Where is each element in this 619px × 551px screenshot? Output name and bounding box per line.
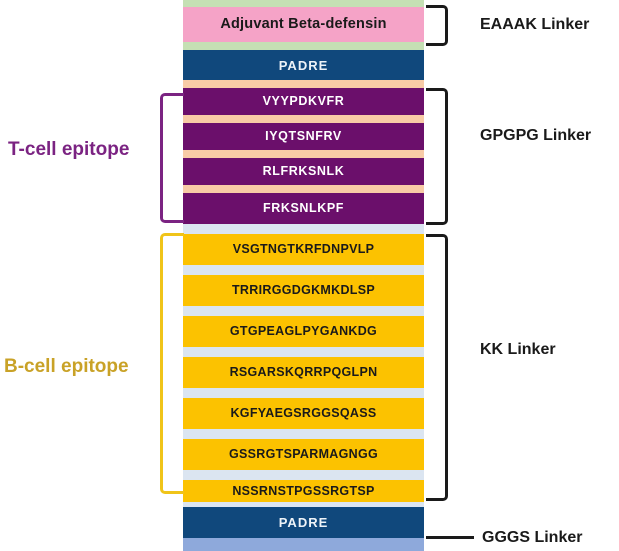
padre-top-label: PADRE <box>279 59 329 72</box>
linker-ltblue-4 <box>183 347 424 357</box>
eaaak-linker-label: EAAAK Linker <box>480 16 589 34</box>
kk-linker-bracket <box>426 234 448 501</box>
bcell-epitope-3-label: GTGPEAGLPYGANKDG <box>230 325 377 338</box>
gpgpg-linker-bracket <box>426 88 448 225</box>
linker-ltblue-6 <box>183 429 424 439</box>
vaccine-construct-stack: Adjuvant Beta-defensinPADREVYYPDKVFRIYQT… <box>183 0 424 551</box>
linker-peach-1 <box>183 80 424 88</box>
bcell-epitope-5-label: KGFYAEGSRGGSQASS <box>230 407 376 420</box>
eaaak-linker-bracket <box>426 5 448 46</box>
bcell-epitope-2: TRRIRGGDGKMKDLSP <box>183 275 424 306</box>
linker-ltblue-5 <box>183 388 424 398</box>
tcell-epitope-label: T-cell epitope <box>8 139 129 161</box>
tcell-epitope-1-label: VYYPDKVFR <box>263 95 345 108</box>
bcell-epitope-6-label: GSSRGTSPARMAGNGG <box>229 448 378 461</box>
adjuvant: Adjuvant Beta-defensin <box>183 7 424 42</box>
tcell-epitope-2-label: IYQTSNFRV <box>265 130 342 143</box>
tcell-epitope-3-label: RLFRKSNLK <box>263 165 345 178</box>
bcell-epitope-label: B-cell epitope <box>4 356 129 378</box>
linker-ltblue-2 <box>183 265 424 275</box>
adjuvant-label: Adjuvant Beta-defensin <box>220 17 386 32</box>
bcell-epitope-1-label: VSGTNGTKRFDNPVLP <box>233 243 375 256</box>
tcell-epitope-1: VYYPDKVFR <box>183 88 424 115</box>
spacer-green-bottom <box>183 42 424 50</box>
padre-top: PADRE <box>183 50 424 80</box>
bcell-epitope-6: GSSRGTSPARMAGNGG <box>183 439 424 470</box>
tcell-epitope-4: FRKSNLKPF <box>183 193 424 224</box>
padre-bottom: PADRE <box>183 507 424 538</box>
linker-peach-3 <box>183 150 424 158</box>
linker-ltblue-3 <box>183 306 424 316</box>
bcell-epitope-7-label: NSSRNSTPGSSRGTSP <box>232 485 374 498</box>
bcell-epitope-3: GTGPEAGLPYGANKDG <box>183 316 424 347</box>
bcell-epitope-4-label: RSGARSKQRRPQGLPN <box>230 366 378 379</box>
tcell-epitope-bracket <box>160 93 184 223</box>
bcell-epitope-5: KGFYAEGSRGGSQASS <box>183 398 424 429</box>
bcell-epitope-7: NSSRNSTPGSSRGTSP <box>183 480 424 502</box>
spacer-green-top <box>183 0 424 7</box>
tcell-epitope-3: RLFRKSNLK <box>183 158 424 185</box>
linker-peach-2 <box>183 115 424 123</box>
bcell-epitope-bracket <box>160 233 184 494</box>
linker-ltblue-1 <box>183 224 424 234</box>
tcell-epitope-2: IYQTSNFRV <box>183 123 424 150</box>
padre-bottom-label: PADRE <box>279 516 329 529</box>
linker-ltblue-7 <box>183 470 424 480</box>
diagram-canvas: Adjuvant Beta-defensinPADREVYYPDKVFRIYQT… <box>0 0 619 551</box>
gpgpg-linker-label: GPGPG Linker <box>480 127 591 145</box>
tcell-epitope-4-label: FRKSNLKPF <box>263 202 344 215</box>
linker-peach-4 <box>183 185 424 193</box>
bcell-epitope-2-label: TRRIRGGDGKMKDLSP <box>232 284 375 297</box>
bcell-epitope-1: VSGTNGTKRFDNPVLP <box>183 234 424 265</box>
tail-periwinkle <box>183 538 424 551</box>
kk-linker-label: KK Linker <box>480 341 556 359</box>
gggs-linker-leader-line <box>426 536 474 539</box>
gggs-linker-label: GGGS Linker <box>482 529 582 547</box>
bcell-epitope-4: RSGARSKQRRPQGLPN <box>183 357 424 388</box>
